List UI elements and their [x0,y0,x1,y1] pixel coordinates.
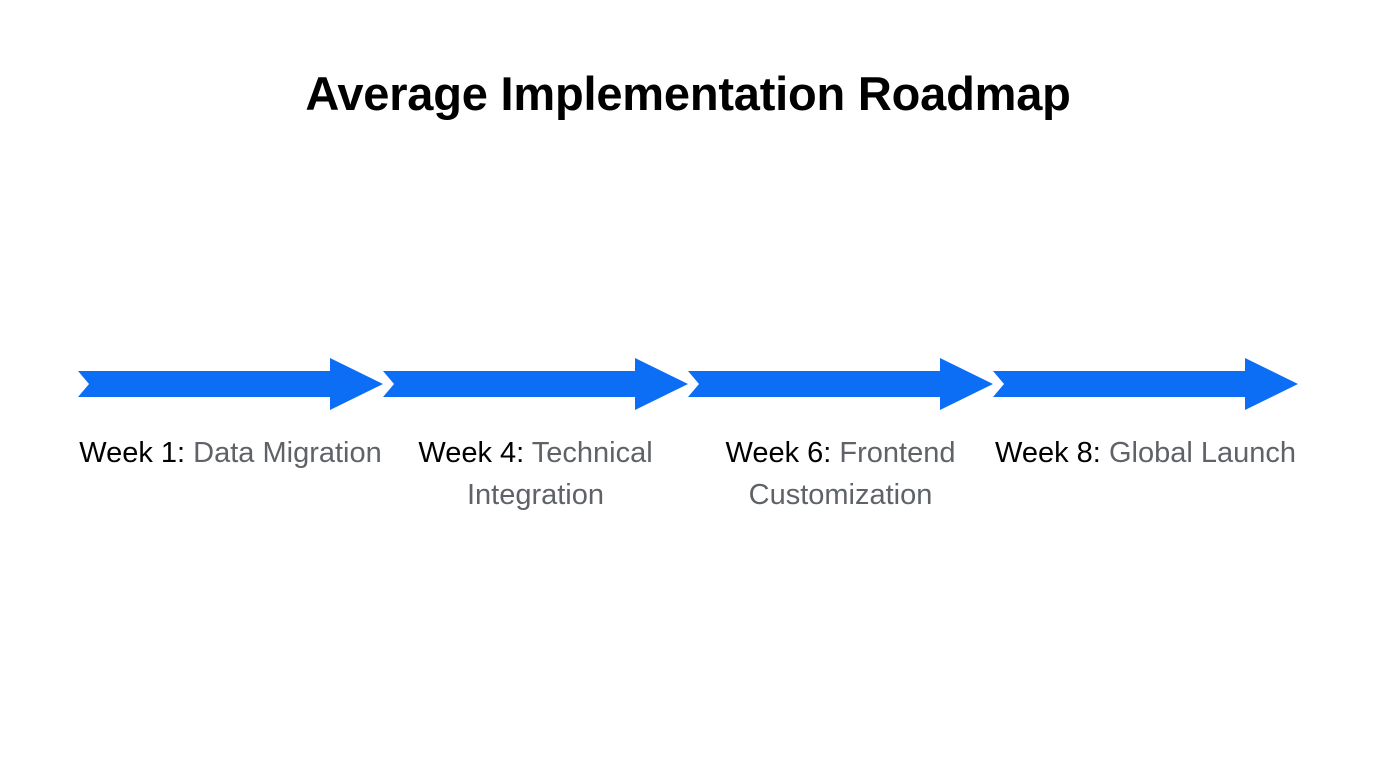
arrow-track [78,358,1298,410]
stage-labels: Week 1: Data Migration Week 4: Technical… [78,432,1298,572]
stage-label-4: Week 8: Global Launch [993,432,1298,474]
stage-label-1: Week 1: Data Migration [78,432,383,474]
stage-arrow-3[interactable] [688,358,993,410]
roadmap-timeline [78,358,1298,410]
stage-arrow-4[interactable] [993,358,1298,410]
stage-week-3: Week 6: [726,437,832,469]
stage-week-1: Week 1: [79,437,185,469]
stage-label-3: Week 6: Frontend Customization [688,432,993,516]
stage-week-2: Week 4: [418,437,524,469]
stage-description-4: Global Launch [1109,437,1296,469]
stage-arrow-2[interactable] [383,358,688,410]
stage-arrow-1[interactable] [78,358,383,410]
stage-week-4: Week 8: [995,437,1101,469]
stage-label-2: Week 4: Technical Integration [383,432,688,516]
roadmap-slide: Average Implementation Roadmap [0,0,1376,768]
page-title: Average Implementation Roadmap [0,68,1376,120]
stage-description-1: Data Migration [193,437,382,469]
